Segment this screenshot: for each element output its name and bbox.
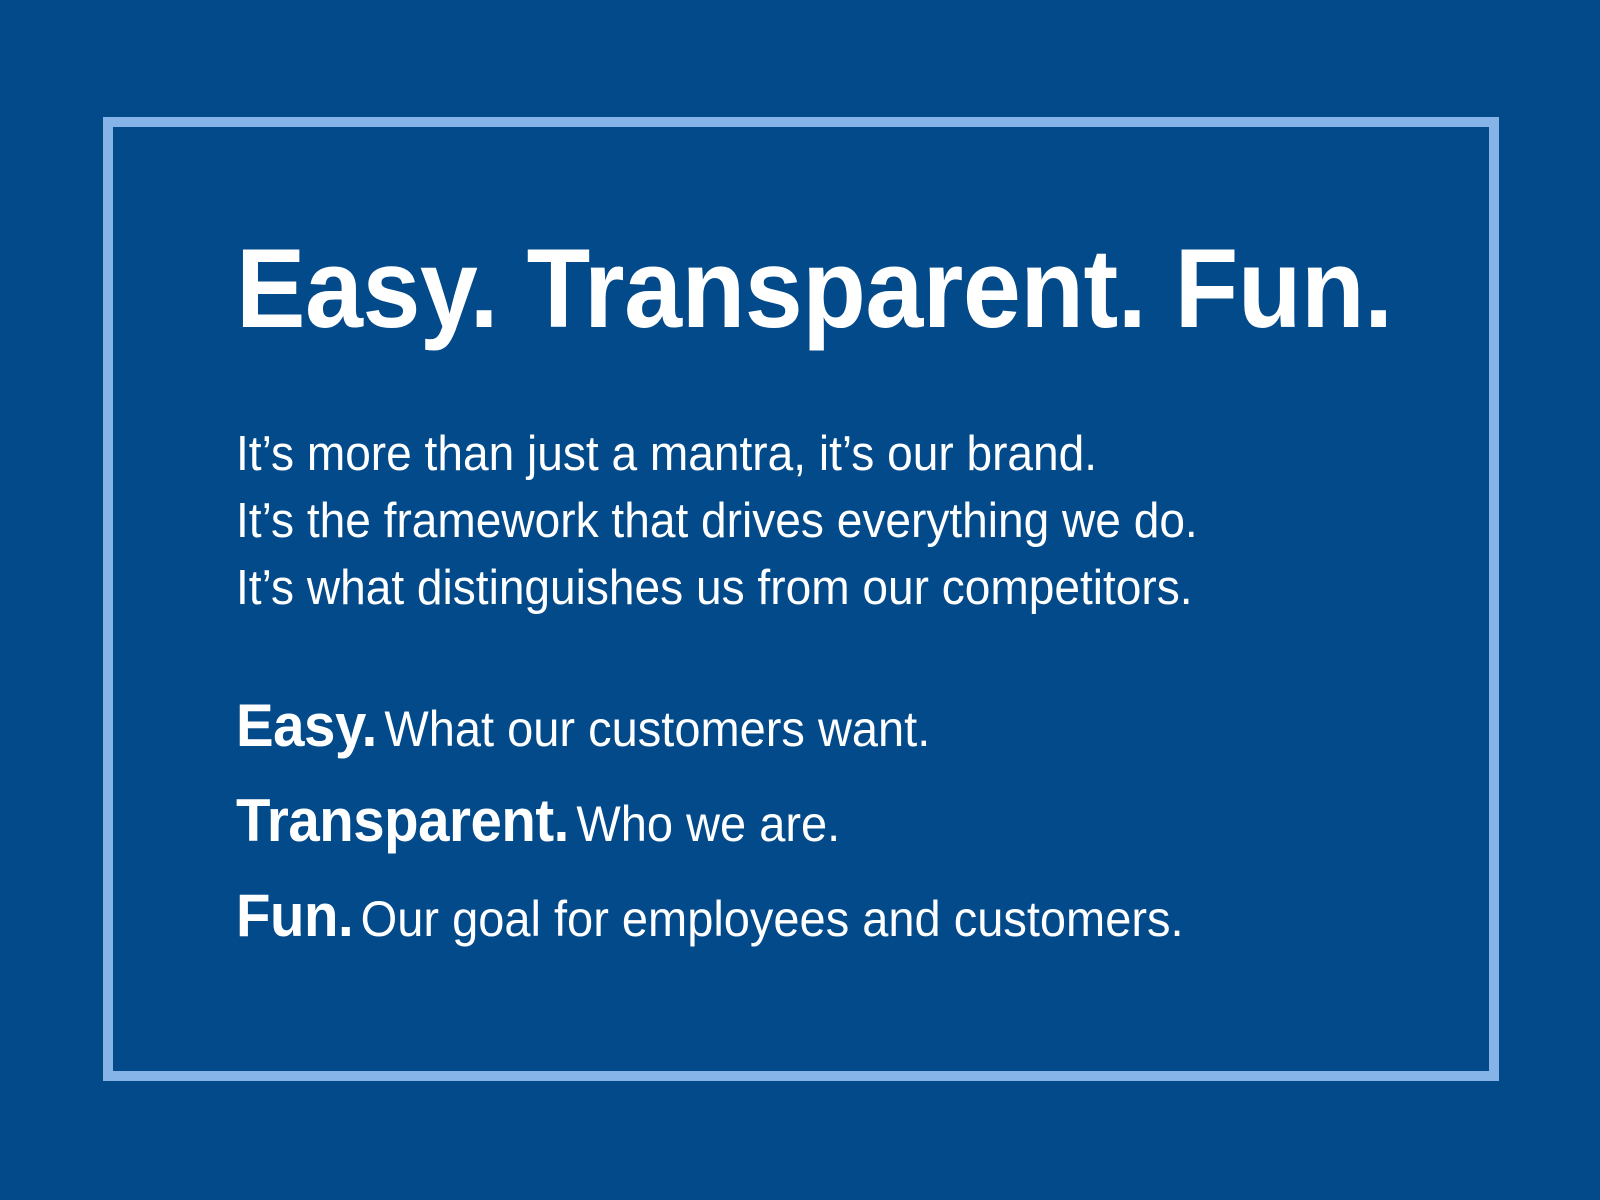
definition-term: Easy.: [236, 692, 377, 759]
intro-paragraph: It’s more than just a mantra, it’s our b…: [236, 421, 1326, 622]
definition-list: Easy.What our customers want. Transparen…: [236, 686, 1326, 971]
definition-description: Who we are.: [576, 796, 840, 852]
slide-content: Easy. Transparent. Fun. It’s more than j…: [236, 233, 1396, 971]
intro-line-2: It’s the framework that drives everythin…: [236, 488, 1326, 555]
definition-item-easy: Easy.What our customers want.: [236, 686, 1326, 781]
definition-term: Fun.: [236, 882, 353, 949]
definition-term: Transparent.: [236, 787, 569, 854]
intro-line-1: It’s more than just a mantra, it’s our b…: [236, 421, 1326, 488]
definition-item-fun: Fun.Our goal for employees and customers…: [236, 876, 1326, 971]
definition-item-transparent: Transparent.Who we are.: [236, 781, 1326, 876]
slide-canvas: Easy. Transparent. Fun. It’s more than j…: [0, 0, 1600, 1200]
definition-description: Our goal for employees and customers.: [361, 891, 1184, 947]
definition-description: What our customers want.: [384, 701, 930, 757]
intro-line-3: It’s what distinguishes us from our comp…: [236, 555, 1326, 622]
page-title: Easy. Transparent. Fun.: [236, 233, 1315, 345]
